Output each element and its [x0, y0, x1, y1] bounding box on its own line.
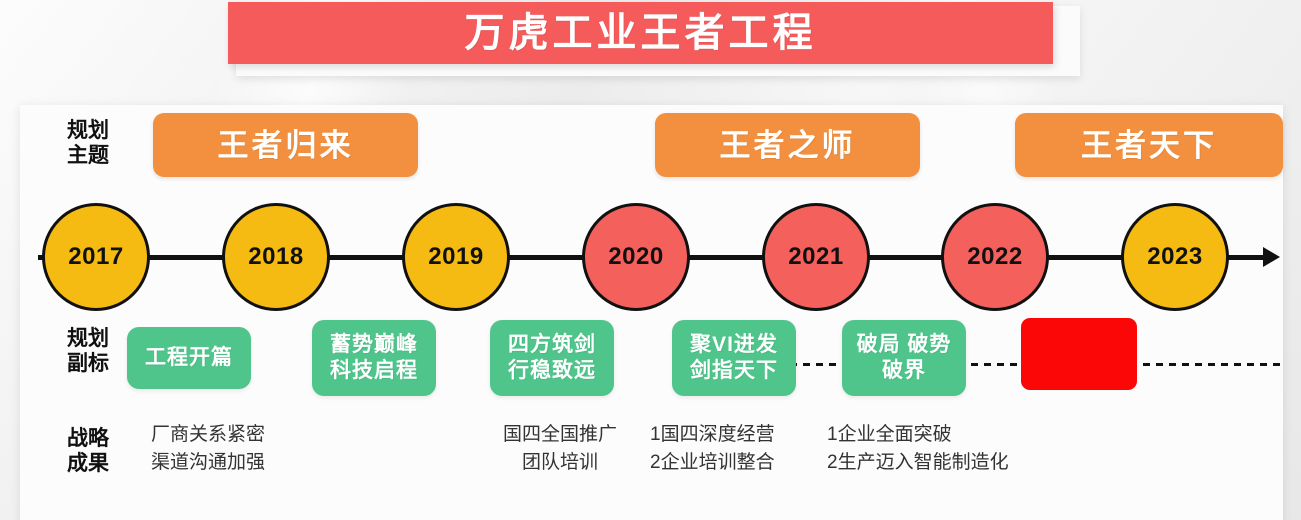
- theme-box-1-label: 王者归来: [218, 130, 354, 161]
- subtitle-box-2019[interactable]: 四方筑剑 行稳致远: [490, 320, 614, 396]
- year-node-2023-label: 2023: [1147, 243, 1202, 271]
- page-title: 万虎工业王者工程: [465, 13, 817, 53]
- year-node-2022-label: 2022: [967, 243, 1022, 271]
- theme-box-2[interactable]: 王者之师: [655, 113, 920, 177]
- timeline-card: 规划 主题 规划 副标 战略 成果 王者归来 王者之师 王者天下 2017 20…: [20, 105, 1283, 520]
- year-node-2023[interactable]: 2023: [1121, 203, 1229, 311]
- subtitle-box-2018-label: 蓄势巅峰 科技启程: [330, 332, 418, 385]
- subtitle-box-2020-label: 聚VI进发 剑指天下: [690, 332, 778, 385]
- year-node-2021-label: 2021: [788, 243, 843, 271]
- year-node-2017[interactable]: 2017: [42, 203, 150, 311]
- result-text-2022: 1企业全面突破 2生产迈入智能制造化: [827, 421, 1057, 476]
- title-banner: 万虎工业王者工程: [228, 2, 1053, 64]
- subtitle-box-2018[interactable]: 蓄势巅峰 科技启程: [312, 320, 436, 396]
- year-node-2020[interactable]: 2020: [582, 203, 690, 311]
- result-text-2019: 国四全国推广 团队培训: [475, 421, 645, 476]
- subtitle-box-2017-label: 工程开篇: [145, 345, 233, 371]
- theme-box-3-label: 王者天下: [1081, 130, 1217, 161]
- subtitle-box-2020[interactable]: 聚VI进发 剑指天下: [672, 320, 796, 396]
- subtitle-box-2022-redacted[interactable]: [1021, 318, 1137, 390]
- year-node-2021[interactable]: 2021: [762, 203, 870, 311]
- subtitle-box-2021[interactable]: 破局 破势 破界: [842, 320, 966, 396]
- year-node-2020-label: 2020: [608, 243, 663, 271]
- subtitle-connector-2: [958, 363, 1028, 366]
- theme-box-1[interactable]: 王者归来: [153, 113, 418, 177]
- year-node-2018-label: 2018: [248, 243, 303, 271]
- year-node-2019-label: 2019: [428, 243, 483, 271]
- subtitle-box-2017[interactable]: 工程开篇: [127, 327, 251, 389]
- result-text-2017: 厂商关系紧密 渠道沟通加强: [118, 421, 298, 476]
- year-node-2019[interactable]: 2019: [402, 203, 510, 311]
- year-node-2022[interactable]: 2022: [941, 203, 1049, 311]
- row-label-planning-theme: 规划 主题: [40, 119, 136, 169]
- theme-box-3[interactable]: 王者天下: [1015, 113, 1283, 177]
- year-node-2018[interactable]: 2018: [222, 203, 330, 311]
- subtitle-connector-1: [790, 363, 850, 366]
- subtitle-connector-3: [1130, 363, 1280, 366]
- result-text-2021: 1国四深度经营 2企业培训整合: [650, 421, 830, 476]
- timeline-arrow-icon: [1263, 247, 1280, 267]
- row-label-planning-subtitle: 规划 副标: [40, 327, 136, 377]
- subtitle-box-2019-label: 四方筑剑 行稳致远: [508, 332, 596, 385]
- subtitle-box-2021-label: 破局 破势 破界: [857, 332, 952, 385]
- theme-box-2-label: 王者之师: [720, 130, 856, 161]
- year-node-2017-label: 2017: [68, 243, 123, 271]
